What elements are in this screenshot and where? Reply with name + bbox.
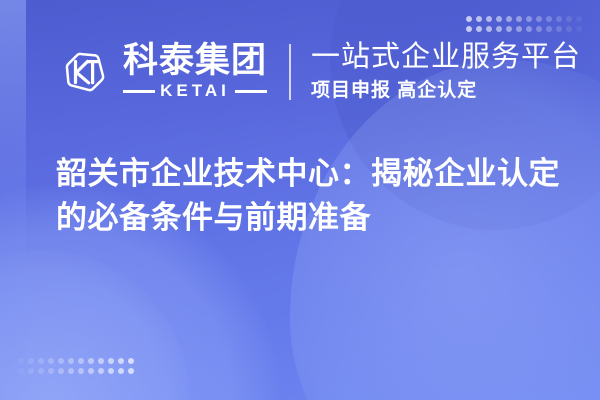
- decorative-dot: [536, 16, 542, 22]
- decorative-dot: [128, 358, 134, 364]
- decorative-dot: [466, 16, 472, 22]
- decorative-dot: [108, 368, 114, 374]
- decorative-dot: [108, 358, 114, 364]
- decorative-dot: [566, 16, 572, 22]
- decorative-dot: [516, 16, 522, 22]
- decorative-dot: [68, 358, 74, 364]
- decorative-dot: [556, 16, 562, 22]
- decorative-dot: [38, 358, 44, 364]
- decorative-dot: [78, 358, 84, 364]
- decorative-dot: [78, 368, 84, 374]
- decorative-dot: [88, 358, 94, 364]
- banner-header: 科泰集团 KETAI 一站式企业服务平台 项目申报 高企认定: [57, 36, 581, 108]
- kt-monogram-icon: [57, 44, 113, 100]
- decorative-dot: [556, 26, 562, 32]
- brand-name-en: KETAI: [160, 81, 230, 101]
- decorative-dot: [98, 358, 104, 364]
- decorative-dot: [28, 368, 34, 374]
- tagline-block: 一站式企业服务平台 项目申报 高企认定: [311, 41, 581, 103]
- tagline-secondary: 项目申报 高企认定: [311, 80, 581, 103]
- decorative-dot: [118, 358, 124, 364]
- brand-wordmark: 科泰集团 KETAI: [123, 43, 267, 101]
- decorative-dot: [88, 368, 94, 374]
- dot-grid-top-right: [466, 16, 582, 32]
- decorative-dot: [536, 26, 542, 32]
- wordmark-rule-left: [123, 90, 155, 93]
- decorative-dot: [118, 368, 124, 374]
- brand-logo[interactable]: 科泰集团 KETAI: [57, 43, 267, 101]
- decorative-dot: [526, 16, 532, 22]
- decorative-dot: [526, 26, 532, 32]
- brand-name-en-row: KETAI: [123, 81, 267, 101]
- decorative-dot: [18, 368, 24, 374]
- decorative-dot: [58, 368, 64, 374]
- decorative-dot: [18, 358, 24, 364]
- decorative-dot: [128, 368, 134, 374]
- decorative-dot: [476, 16, 482, 22]
- decorative-dot: [566, 26, 572, 32]
- decorative-dot: [516, 26, 522, 32]
- decorative-dot: [486, 26, 492, 32]
- decorative-dot: [496, 26, 502, 32]
- dot-row: [466, 16, 582, 22]
- decorative-dot: [496, 16, 502, 22]
- decorative-dot: [58, 358, 64, 364]
- decorative-dot: [576, 16, 582, 22]
- decorative-dot: [546, 26, 552, 32]
- left-edge-highlight-band: [0, 0, 26, 400]
- decorative-dot: [546, 16, 552, 22]
- brand-name-cn: 科泰集团: [123, 43, 267, 78]
- header-divider: [289, 44, 291, 100]
- dot-row: [18, 368, 134, 374]
- tagline-primary: 一站式企业服务平台: [311, 41, 581, 74]
- dot-grid-bottom-left: [18, 358, 134, 374]
- decorative-dot: [476, 26, 482, 32]
- decorative-dot: [38, 368, 44, 374]
- decorative-dot: [48, 358, 54, 364]
- decorative-dot: [466, 26, 472, 32]
- decorative-dot: [48, 368, 54, 374]
- dot-row: [466, 26, 582, 32]
- decorative-dot: [486, 16, 492, 22]
- decorative-dot: [576, 26, 582, 32]
- decorative-dot: [68, 368, 74, 374]
- decorative-dot: [98, 368, 104, 374]
- left-glow-circle-inner: [0, 250, 190, 400]
- headline-title: 韶关市企业技术中心：揭秘企业认定的必备条件与前期准备: [56, 152, 561, 240]
- dot-row: [18, 358, 134, 364]
- decorative-dot: [28, 358, 34, 364]
- promo-banner: 科泰集团 KETAI 一站式企业服务平台 项目申报 高企认定 韶关市企业技术中心…: [0, 0, 600, 400]
- decorative-dot: [506, 26, 512, 32]
- decorative-dot: [506, 16, 512, 22]
- wordmark-rule-right: [235, 90, 267, 93]
